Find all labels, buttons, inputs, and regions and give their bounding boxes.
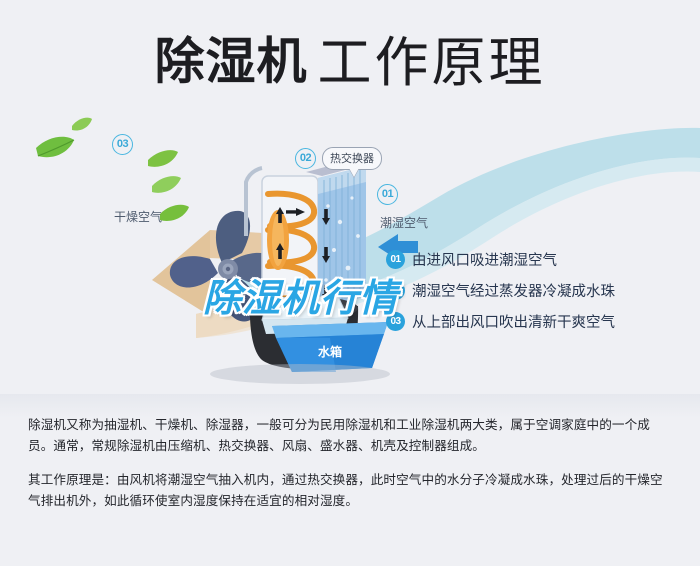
badge-dry-air: 03 xyxy=(112,134,133,155)
page-title-light: 工作原理 xyxy=(318,33,546,93)
badge-heat-exchanger: 02 xyxy=(295,148,316,169)
process-legend: 01 由进风口吸进潮湿空气 02 潮湿空气经过蒸发器冷凝成水珠 03 从上部出风… xyxy=(386,244,686,337)
body-paragraph-2: 其工作原理是：由风机将潮湿空气抽入机内，通过热交换器，此时空气中的水分子冷凝成水… xyxy=(28,470,674,512)
badge-humid-air: 01 xyxy=(377,184,398,205)
machine-shadow xyxy=(210,364,390,384)
page-title: 除湿机工作原理 xyxy=(0,18,700,97)
callout-tail xyxy=(349,168,359,177)
leaf-icon xyxy=(152,176,181,193)
callout-heat-exchanger-label: 热交换器 xyxy=(330,153,374,165)
leaf-icon xyxy=(148,150,178,167)
label-humid-air: 潮湿空气 xyxy=(380,214,428,231)
leaf-icon xyxy=(160,205,189,221)
page-title-bold: 除湿机 xyxy=(155,34,308,90)
label-dry-air: 干燥空气 xyxy=(114,208,162,225)
legend-item: 02 潮湿空气经过蒸发器冷凝成水珠 xyxy=(386,275,686,306)
leaf-icon xyxy=(72,118,92,131)
label-water-tank: 水箱 xyxy=(318,343,342,360)
leaf-group xyxy=(36,118,189,221)
legend-item: 03 从上部出风口吹出清新干爽空气 xyxy=(386,306,686,337)
legend-text-01: 由进风口吸进潮湿空气 xyxy=(412,249,557,270)
legend-text-02: 潮湿空气经过蒸发器冷凝成水珠 xyxy=(412,280,615,301)
article-body: 除湿机又称为抽湿机、干燥机、除湿器，一般可分为民用除湿机和工业除湿机两大类，属于… xyxy=(28,415,674,512)
watermark-text: 除湿机行情 xyxy=(203,267,398,322)
callout-heat-exchanger: 热交换器 xyxy=(322,147,382,170)
legend-text-03: 从上部出风口吹出清新干爽空气 xyxy=(412,311,615,332)
body-paragraph-1: 除湿机又称为抽湿机、干燥机、除湿器，一般可分为民用除湿机和工业除湿机两大类，属于… xyxy=(28,415,674,457)
legend-item: 01 由进风口吸进潮湿空气 xyxy=(386,244,686,275)
